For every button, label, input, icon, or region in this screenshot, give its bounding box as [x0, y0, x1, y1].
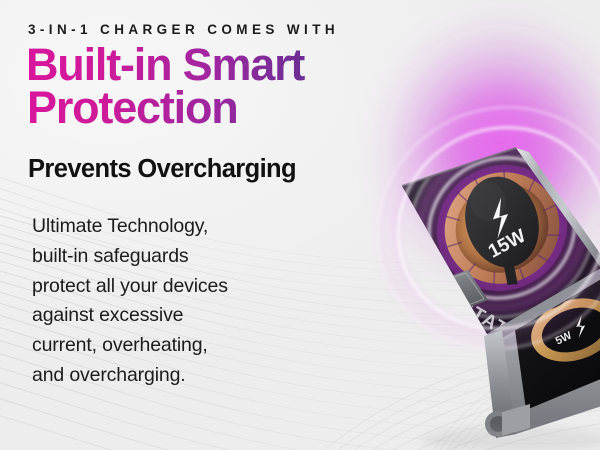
body-line-6: and overcharging.: [32, 361, 332, 391]
body-line-4: against excessive: [32, 301, 332, 331]
ground-shadow: [420, 427, 600, 450]
body-paragraph: Ultimate Technology, built-in safeguards…: [32, 212, 332, 390]
product-image-3in1-charger: 5W: [316, 0, 600, 450]
body-line-1: Ultimate Technology,: [32, 212, 332, 242]
body-line-2: built-in safeguards: [32, 242, 332, 272]
body-line-5: current, overheating,: [32, 331, 332, 361]
promotional-banner: 3-IN-1 CHARGER COMES WITH Built-in Smart…: [0, 0, 600, 450]
body-line-3: protect all your devices: [32, 272, 332, 302]
